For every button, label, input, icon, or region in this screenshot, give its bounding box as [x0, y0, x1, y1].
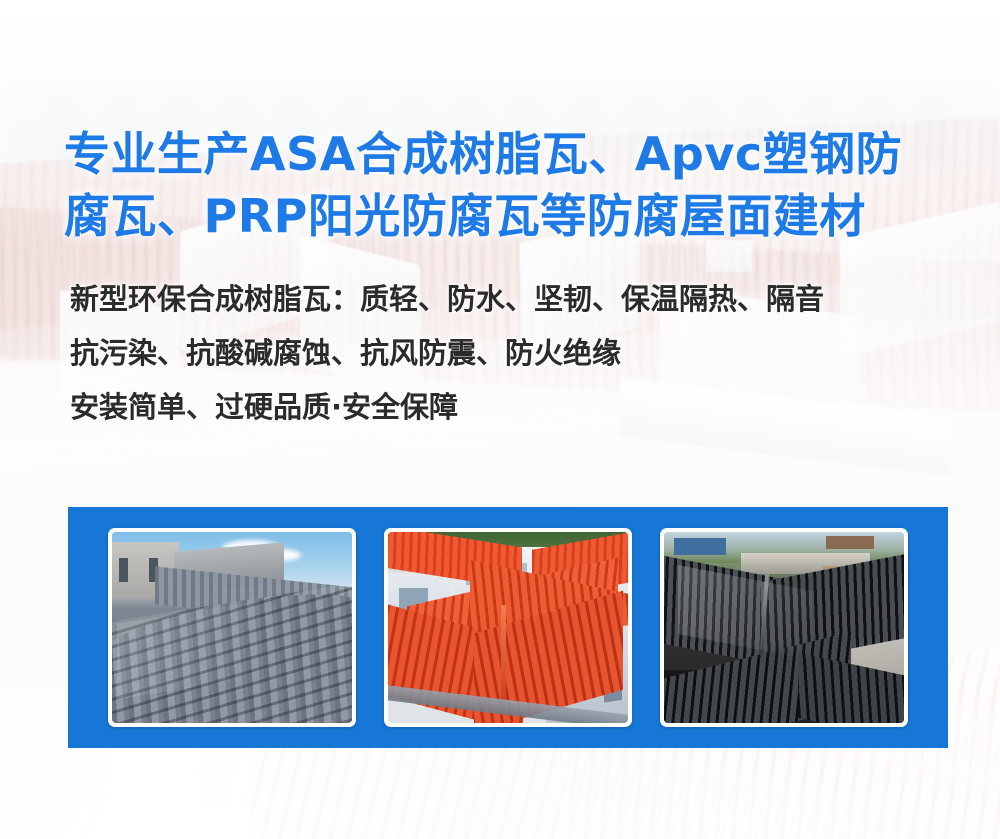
photo-hip-ridge	[501, 605, 506, 712]
product-banner: 专业生产ASA合成树脂瓦、Apvc塑钢防 腐瓦、PRP阳光防腐瓦等防腐屋面建材 …	[0, 0, 1000, 839]
subtitle-line-3: 安装简单、过硬品质·安全保障	[70, 380, 950, 434]
gallery-photo-3-frame[interactable]	[660, 528, 908, 727]
banner-subtitle: 新型环保合成树脂瓦：质轻、防水、坚韧、保温隔热、隔音 抗污染、抗酸碱腐蚀、抗风防…	[70, 272, 950, 434]
gallery-photo-red-resin-tile-roof	[388, 532, 628, 723]
gallery-photo-1-frame[interactable]	[108, 528, 356, 727]
gallery-photo-gray-resin-tile-roof	[112, 532, 352, 723]
photo-far-buildings	[674, 538, 727, 555]
gallery-photo-black-resin-tile-roof	[664, 532, 904, 723]
gallery-photo-2-frame[interactable]	[384, 528, 632, 727]
product-photo-gallery	[68, 507, 948, 748]
subtitle-line-2: 抗污染、抗酸碱腐蚀、抗风防震、防火绝缘	[70, 326, 950, 380]
banner-headline: 专业生产ASA合成树脂瓦、Apvc塑钢防 腐瓦、PRP阳光防腐瓦等防腐屋面建材	[64, 123, 954, 247]
subtitle-line-1: 新型环保合成树脂瓦：质轻、防水、坚韧、保温隔热、隔音	[70, 272, 950, 326]
